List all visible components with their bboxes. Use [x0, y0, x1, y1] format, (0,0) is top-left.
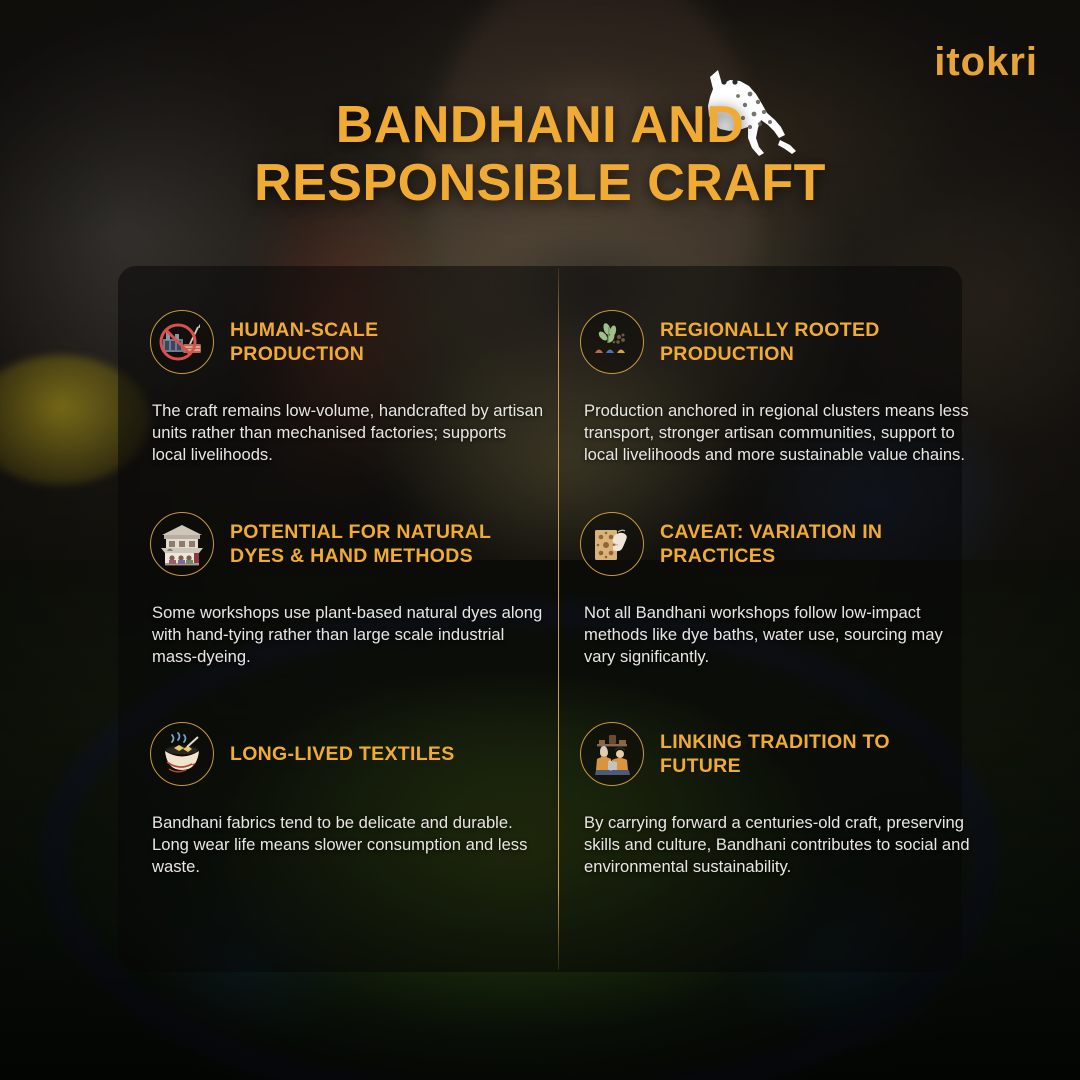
card-body: By carrying forward a centuries-old craf…	[584, 812, 976, 878]
card-long-lived-textiles: LONG-LIVED TEXTILES Bandhani fabrics ten…	[150, 718, 550, 878]
header: itokri BANDHANI AND RESPONSIBLE CRAFT	[0, 0, 1080, 265]
card-human-scale-production: HUMAN-SCALE PRODUCTION The craft remains…	[150, 306, 550, 466]
craft-workshop-building-icon	[150, 512, 214, 576]
card-title: LONG-LIVED TEXTILES	[230, 742, 455, 766]
card-body: The craft remains low-volume, handcrafte…	[152, 400, 544, 466]
card-header: POTENTIAL FOR NATURAL DYES & HAND METHOD…	[150, 508, 550, 580]
dye-pot-icon	[150, 722, 214, 786]
card-title: LINKING TRADITION TO FUTURE	[660, 730, 940, 778]
card-caveat-variation: CAVEAT: VARIATION IN PRACTICES Not all B…	[580, 508, 980, 668]
card-title: REGIONALLY ROOTED PRODUCTION	[660, 318, 940, 366]
card-body: Bandhani fabrics tend to be delicate and…	[152, 812, 544, 878]
card-header: LONG-LIVED TEXTILES	[150, 718, 550, 790]
card-title: POTENTIAL FOR NATURAL DYES & HAND METHOD…	[230, 520, 510, 568]
cards-grid: HUMAN-SCALE PRODUCTION The craft remains…	[118, 266, 962, 972]
natural-dye-plants-icon	[580, 310, 644, 374]
card-body: Not all Bandhani workshops follow low-im…	[584, 602, 976, 668]
card-regionally-rooted-production: REGIONALLY ROOTED PRODUCTION Production …	[580, 306, 980, 466]
card-potential-natural-dyes: POTENTIAL FOR NATURAL DYES & HAND METHOD…	[150, 508, 550, 668]
title-line-2: RESPONSIBLE CRAFT	[0, 154, 1080, 212]
card-linking-tradition-future: LINKING TRADITION TO FUTURE By carrying …	[580, 718, 980, 878]
hand-holding-fabric-icon	[580, 512, 644, 576]
two-artisans-icon	[580, 722, 644, 786]
title-line-1: BANDHANI AND	[336, 96, 745, 154]
brand-logo[interactable]: itokri	[934, 40, 1038, 85]
card-body: Some workshops use plant-based natural d…	[152, 602, 544, 668]
card-header: REGIONALLY ROOTED PRODUCTION	[580, 306, 980, 378]
page-title: BANDHANI AND RESPONSIBLE CRAFT	[0, 96, 1080, 212]
card-body: Production anchored in regional clusters…	[584, 400, 976, 466]
card-title: HUMAN-SCALE PRODUCTION	[230, 318, 510, 366]
card-header: LINKING TRADITION TO FUTURE	[580, 718, 980, 790]
card-header: CAVEAT: VARIATION IN PRACTICES	[580, 508, 980, 580]
card-title: CAVEAT: VARIATION IN PRACTICES	[660, 520, 940, 568]
no-factory-icon	[150, 310, 214, 374]
card-header: HUMAN-SCALE PRODUCTION	[150, 306, 550, 378]
